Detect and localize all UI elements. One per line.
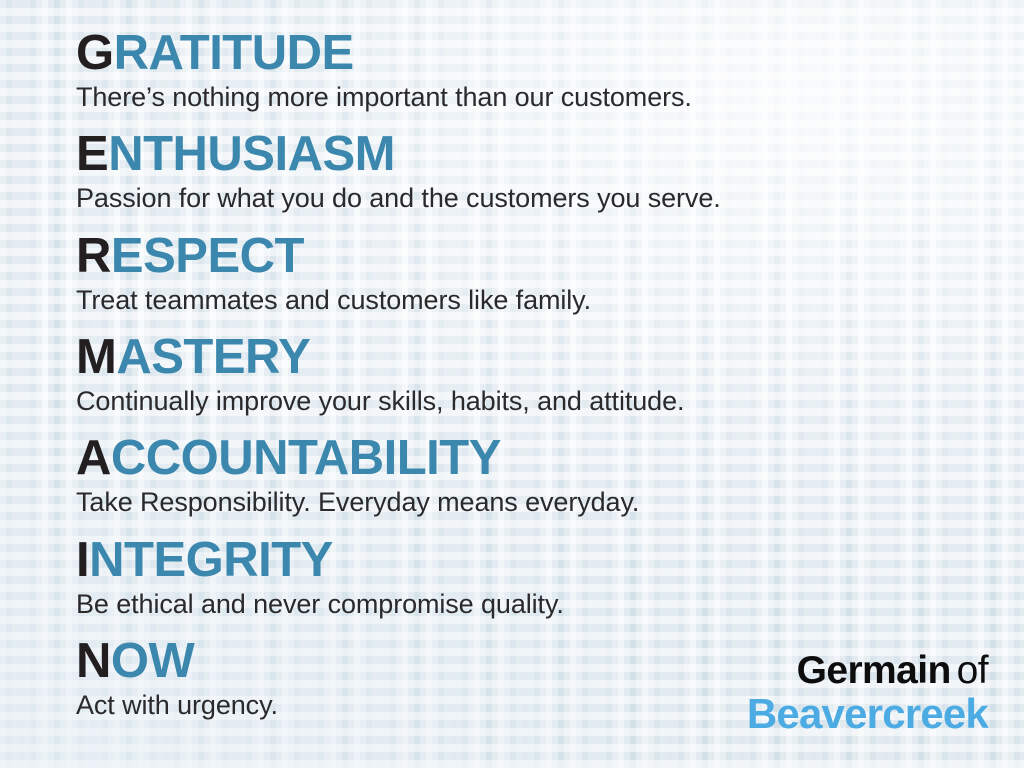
logo-brand-name: Germain [797, 649, 951, 692]
value-heading-rest: ESPECT [111, 229, 304, 283]
value-heading-rest: OW [111, 634, 194, 688]
value-block-integrity: INTEGRITY Be ethical and never compromis… [76, 537, 976, 620]
value-heading-integrity: INTEGRITY [76, 537, 976, 584]
value-description-accountability: Take Responsibility. Everyday means ever… [76, 487, 976, 518]
logo-connector-word: of [957, 649, 988, 692]
value-heading-rest: NTHUSIASM [108, 127, 395, 181]
value-heading-enthusiasm: ENTHUSIASM [76, 131, 976, 178]
value-description-mastery: Continually improve your skills, habits,… [76, 386, 976, 417]
value-block-respect: RESPECT Treat teammates and customers li… [76, 233, 976, 316]
value-heading-accountability: ACCOUNTABILITY [76, 435, 976, 482]
value-initial-letter: A [76, 431, 111, 485]
value-description-enthusiasm: Passion for what you do and the customer… [76, 183, 976, 214]
value-initial-letter: G [76, 26, 114, 80]
value-heading-respect: RESPECT [76, 233, 976, 280]
value-block-gratitude: GRATITUDE There’s nothing more important… [76, 30, 976, 113]
value-heading-rest: NTEGRITY [89, 533, 333, 587]
value-heading-rest: ASTERY [116, 330, 310, 384]
value-description-integrity: Be ethical and never compromise quality. [76, 589, 976, 620]
value-heading-rest: RATITUDE [114, 26, 354, 80]
value-description-respect: Treat teammates and customers like famil… [76, 285, 976, 316]
dealership-logo: Germainof Beavercreek [747, 651, 988, 736]
core-values-list: GRATITUDE There’s nothing more important… [76, 30, 976, 739]
value-heading-mastery: MASTERY [76, 334, 976, 381]
value-heading-rest: CCOUNTABILITY [111, 431, 501, 485]
value-description-gratitude: There’s nothing more important than our … [76, 82, 976, 113]
logo-primary-line: Germainof [747, 651, 988, 691]
value-initial-letter: R [76, 229, 111, 283]
value-initial-letter: M [76, 330, 116, 384]
value-initial-letter: N [76, 634, 111, 688]
poster-canvas: GRATITUDE There’s nothing more important… [0, 0, 1024, 768]
value-initial-letter: I [76, 533, 89, 587]
value-initial-letter: E [76, 127, 108, 181]
value-heading-gratitude: GRATITUDE [76, 30, 976, 77]
value-block-enthusiasm: ENTHUSIASM Passion for what you do and t… [76, 131, 976, 214]
logo-location-name: Beavercreek [747, 692, 988, 736]
value-block-accountability: ACCOUNTABILITY Take Responsibility. Ever… [76, 435, 976, 518]
value-block-mastery: MASTERY Continually improve your skills,… [76, 334, 976, 417]
